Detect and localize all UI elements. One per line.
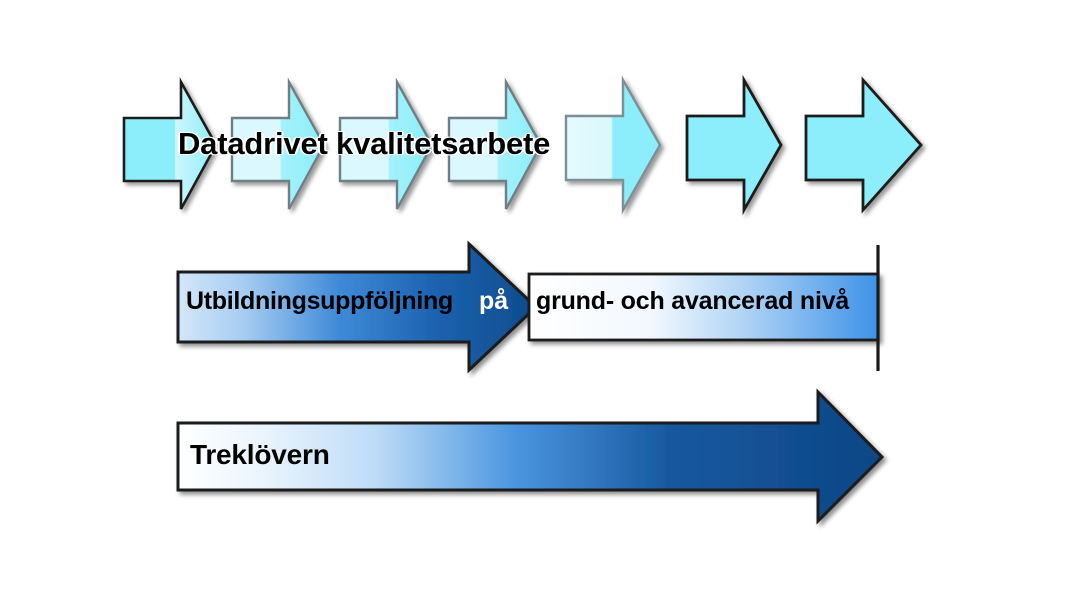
label-utbildningsuppfoljning: Utbildningsuppföljning (186, 289, 453, 314)
label-treklovern: Treklövern (190, 441, 330, 469)
chevron-arrow-5 (566, 80, 660, 210)
chevron-arrow-7 (806, 80, 921, 210)
label-pa-highlight: på (479, 289, 508, 314)
chevron-arrow-6 (687, 80, 781, 210)
label-grund-och-avancerad-niva: grund- och avancerad nivå (536, 289, 849, 314)
diagram-canvas: Datadrivet kvalitetsarbete Utbildningsup… (0, 0, 1080, 603)
label-datadrivet-kvalitetsarbete: Datadrivet kvalitetsarbete (178, 128, 550, 159)
